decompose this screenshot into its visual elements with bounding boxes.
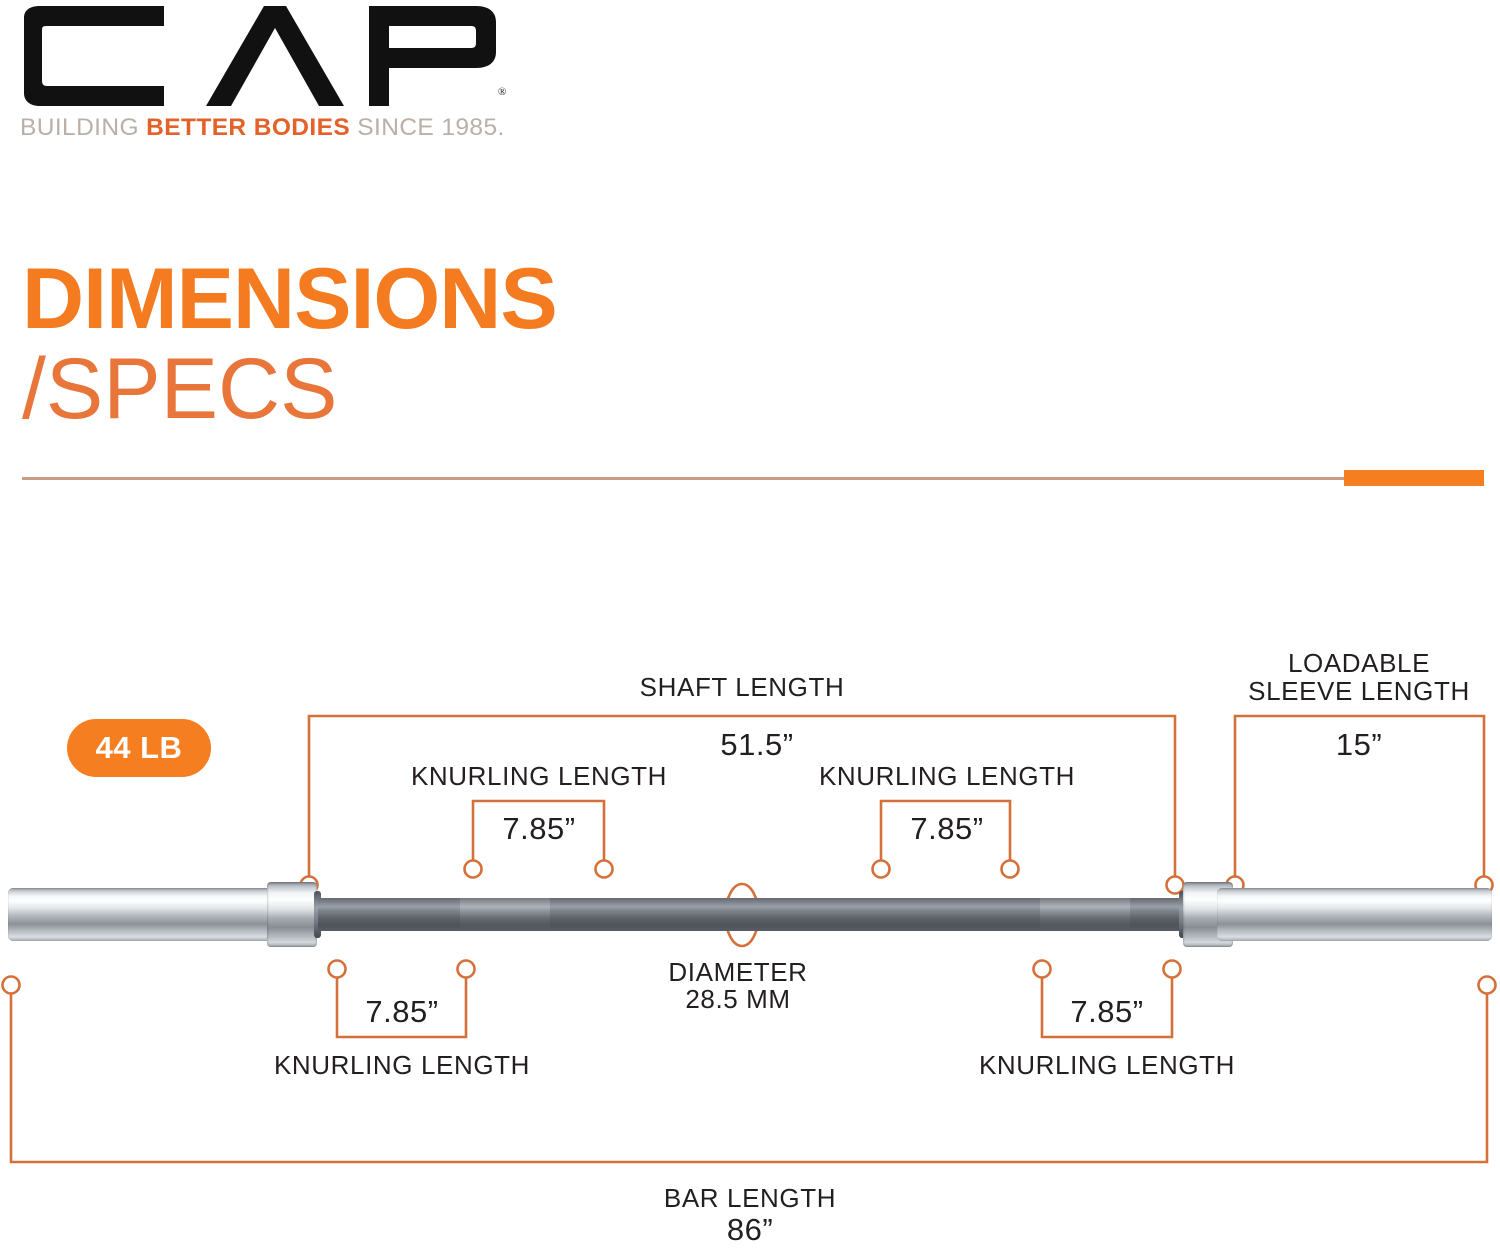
leader-dot <box>329 961 346 978</box>
collar-left <box>267 882 317 947</box>
page-title-secondary: /SPECS <box>22 343 922 435</box>
weight-badge: 44 LB <box>67 719 211 777</box>
bar-length-value: 86” <box>727 1212 773 1248</box>
shaft-highlight <box>460 898 550 931</box>
leader-dot <box>596 861 613 878</box>
sleeve-length-label-line2: SLEEVE LENGTH <box>1248 676 1470 707</box>
knurling-top-left-label: KNURLING LENGTH <box>411 761 667 792</box>
spec-sheet-page: ® BUILDING BETTER BODIES SINCE 1985. DIM… <box>0 0 1500 1253</box>
knurling-top-right-value: 7.85” <box>910 811 983 847</box>
shaft-length-value: 51.5” <box>720 727 793 763</box>
registered-trademark-icon: ® <box>498 86 506 98</box>
divider-rule <box>22 477 1344 480</box>
bar-length-label: BAR LENGTH <box>664 1183 836 1214</box>
leader-dot <box>873 861 890 878</box>
tagline-suffix: SINCE 1985. <box>350 114 505 141</box>
knurling-bottom-left-value: 7.85” <box>365 994 438 1030</box>
brand-tagline: BUILDING BETTER BODIES SINCE 1985. <box>20 114 505 142</box>
tagline-prefix: BUILDING <box>20 114 146 141</box>
weight-badge-label: 44 LB <box>96 730 183 766</box>
divider-accent-bar <box>1344 470 1484 486</box>
knurling-bottom-right-value: 7.85” <box>1070 994 1143 1030</box>
leader-dot <box>1164 961 1181 978</box>
leader-dot <box>458 961 475 978</box>
barbell-illustration <box>0 876 1500 954</box>
leader-dot <box>1034 961 1051 978</box>
bracket-bar-length <box>11 993 1487 1162</box>
shaft-highlight <box>1040 898 1130 931</box>
leader-dot <box>1479 977 1496 994</box>
page-title-primary: DIMENSIONS <box>22 255 922 343</box>
sleeve-length-value: 15” <box>1336 727 1382 763</box>
brand-logo: ® BUILDING BETTER BODIES SINCE 1985. <box>14 4 514 154</box>
knurling-top-right-label: KNURLING LENGTH <box>819 761 1075 792</box>
knurling-bottom-right-label: KNURLING LENGTH <box>979 1050 1235 1081</box>
dimension-leader-lines <box>0 0 1500 1253</box>
sleeve-left <box>8 888 283 941</box>
knurling-bottom-left-label: KNURLING LENGTH <box>274 1050 530 1081</box>
cap-wordmark-icon <box>14 4 514 108</box>
leader-dot <box>1002 861 1019 878</box>
tagline-highlight: BETTER BODIES <box>146 114 350 141</box>
shaft-length-label: SHAFT LENGTH <box>640 672 845 703</box>
knurling-top-left-value: 7.85” <box>502 811 575 847</box>
leader-dot <box>465 861 482 878</box>
page-title: DIMENSIONS /SPECS <box>22 255 922 435</box>
diameter-value: 28.5 MM <box>685 984 790 1015</box>
sleeve-right <box>1217 888 1492 941</box>
sleeve-length-label-line1: LOADABLE <box>1288 648 1430 679</box>
leader-dot <box>3 977 20 994</box>
